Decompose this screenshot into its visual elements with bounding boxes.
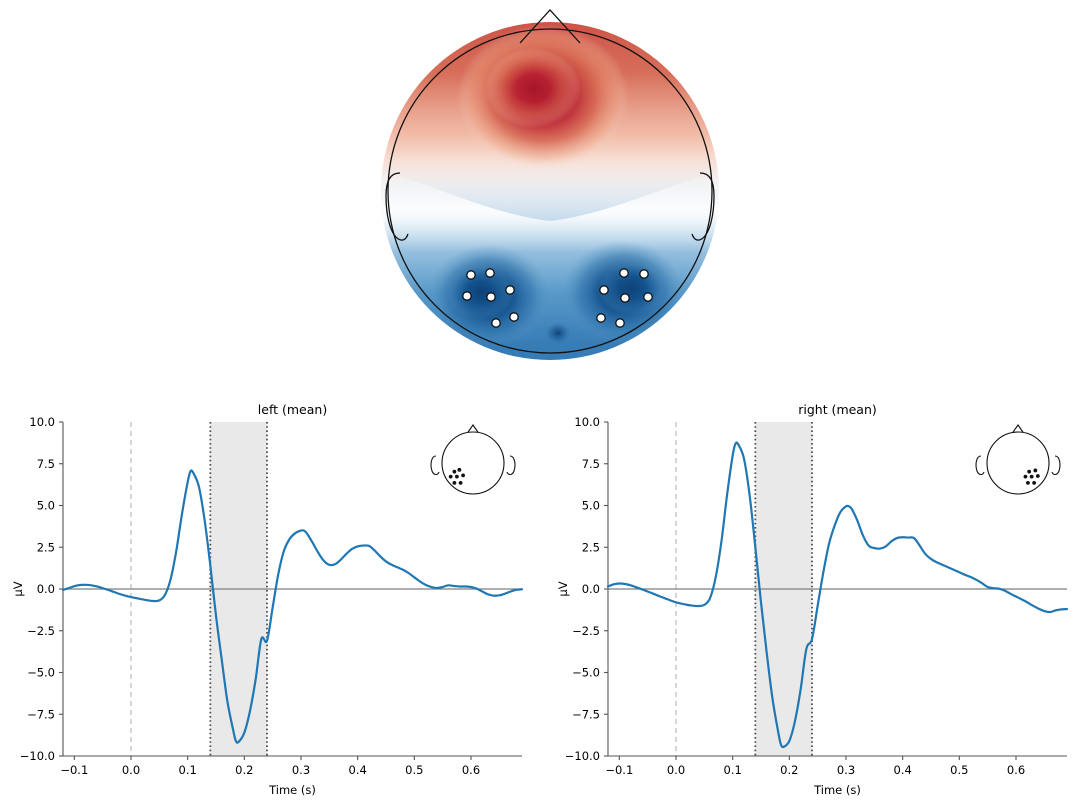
sensor-dot — [463, 292, 471, 300]
x-tick-label: −0.1 — [605, 763, 633, 777]
sensor-dot — [506, 286, 514, 294]
y-tick-label: −7.5 — [27, 707, 55, 721]
scalp-topography-panel — [370, 0, 730, 380]
y-tick-label: −5.0 — [572, 666, 600, 680]
x-tick-label: 0.4 — [349, 763, 367, 777]
sensor-dot — [487, 293, 495, 301]
sensor-dot — [640, 270, 648, 278]
inset-sensor-dot — [1027, 470, 1031, 474]
x-tick-label: 0.2 — [780, 763, 798, 777]
y-axis-label: µV — [11, 581, 25, 596]
y-tick-label: −2.5 — [572, 624, 600, 638]
x-tick-label: 0.3 — [837, 763, 855, 777]
x-tick-label: 0.2 — [235, 763, 253, 777]
right-erp-svg: 10.07.55.02.50.0−2.5−5.0−7.5−10.0−0.10.0… — [545, 390, 1090, 804]
panel-title: right (mean) — [798, 402, 877, 417]
x-tick-label: 0.0 — [122, 763, 140, 777]
x-axis-label: Time (s) — [268, 783, 316, 797]
sensor-dot — [620, 269, 628, 277]
y-tick-label: 0.0 — [37, 582, 55, 596]
sensor-dot — [600, 286, 608, 294]
inset-head-outline — [442, 432, 504, 494]
y-tick-label: 10.0 — [29, 415, 55, 429]
y-tick-label: 0.0 — [582, 582, 600, 596]
inset-head-outline — [987, 432, 1049, 494]
inset-sensor-dot — [459, 481, 463, 485]
x-tick-label: 0.0 — [667, 763, 685, 777]
left-erp-svg: 10.07.55.02.50.0−2.5−5.0−7.5−10.0−0.10.0… — [0, 390, 545, 804]
erp-trace — [608, 442, 1067, 747]
x-tick-label: 0.5 — [950, 763, 968, 777]
erp-trace — [63, 470, 522, 742]
sensor-dot — [492, 319, 500, 327]
inset-head — [431, 425, 515, 494]
x-tick-label: 0.1 — [724, 763, 742, 777]
y-tick-label: 2.5 — [37, 540, 55, 554]
inset-left-ear-icon — [976, 456, 984, 475]
x-tick-label: 0.3 — [292, 763, 310, 777]
y-tick-label: 5.0 — [37, 499, 55, 513]
sensor-dot — [597, 314, 605, 322]
y-tick-label: −5.0 — [27, 666, 55, 680]
inset-sensor-dot — [1036, 474, 1040, 478]
inset-sensor-dot — [455, 475, 459, 479]
inset-right-ear-icon — [1052, 456, 1060, 475]
y-axis-label: µV — [556, 581, 570, 596]
x-tick-label: 0.5 — [405, 763, 423, 777]
sensor-dot — [616, 319, 624, 327]
x-tick-label: 0.4 — [894, 763, 912, 777]
y-tick-label: 7.5 — [582, 457, 600, 471]
sensor-dot — [644, 293, 652, 301]
y-tick-label: 10.0 — [574, 415, 600, 429]
topomap-field — [370, 0, 730, 380]
inset-sensor-dot — [1030, 475, 1034, 479]
y-tick-label: −10.0 — [565, 749, 600, 763]
inset-sensor-dot — [453, 470, 457, 474]
x-tick-label: −0.1 — [60, 763, 88, 777]
x-tick-label: 0.1 — [179, 763, 197, 777]
inset-sensor-dot — [449, 475, 453, 479]
y-tick-label: 5.0 — [582, 499, 600, 513]
x-axis-label: Time (s) — [813, 783, 861, 797]
inset-sensor-dot — [453, 481, 457, 485]
topomap-svg — [370, 0, 730, 380]
y-tick-label: 2.5 — [582, 540, 600, 554]
right-erp-panel: 10.07.55.02.50.0−2.5−5.0−7.5−10.0−0.10.0… — [545, 390, 1090, 804]
y-tick-label: 7.5 — [37, 457, 55, 471]
x-tick-label: 0.6 — [1007, 763, 1025, 777]
left-erp-panel: 10.07.55.02.50.0−2.5−5.0−7.5−10.0−0.10.0… — [0, 390, 545, 804]
erp-figure: 10.07.55.02.50.0−2.5−5.0−7.5−10.0−0.10.0… — [0, 0, 1090, 804]
y-tick-label: −7.5 — [572, 707, 600, 721]
inset-sensor-dot — [1026, 481, 1030, 485]
inset-sensor-dot — [1032, 481, 1036, 485]
inset-right-ear-icon — [507, 456, 515, 475]
inset-left-ear-icon — [431, 456, 439, 475]
inset-sensor-dot — [1024, 475, 1028, 479]
panel-title: left (mean) — [258, 402, 327, 417]
inset-sensor-dot — [461, 474, 465, 478]
sensor-dot — [467, 271, 475, 279]
x-tick-label: 0.6 — [462, 763, 480, 777]
inset-sensor-dot — [1033, 469, 1037, 473]
y-tick-label: −2.5 — [27, 624, 55, 638]
sensor-dot — [486, 269, 494, 277]
y-tick-label: −10.0 — [20, 749, 55, 763]
sensor-dot — [510, 313, 518, 321]
sensor-dot — [621, 294, 629, 302]
inset-head — [976, 425, 1060, 494]
inset-sensor-dot — [457, 468, 461, 472]
